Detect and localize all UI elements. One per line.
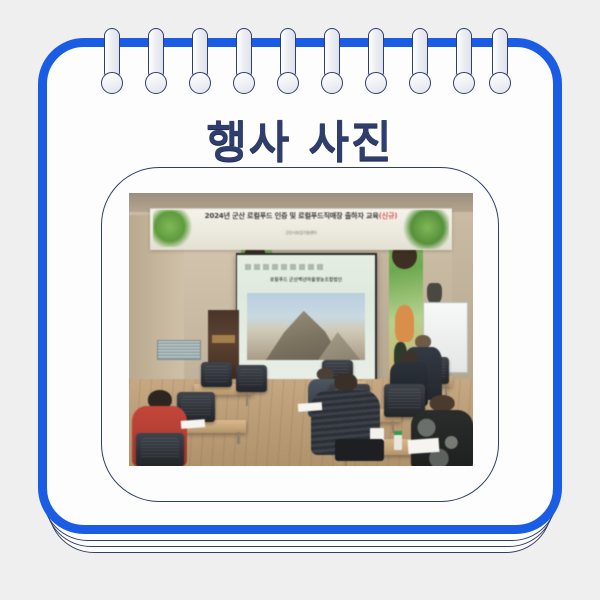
spiral-ring-loop (233, 72, 255, 94)
handout-paper (407, 438, 439, 454)
podium-plate (212, 335, 236, 343)
slide-landscape-image (247, 293, 366, 360)
notepad-container: 행사 사진 (0, 0, 600, 600)
spiral-ring-loop (145, 72, 167, 94)
spiral-ring (233, 28, 255, 100)
chair (236, 365, 267, 392)
chair (136, 433, 184, 466)
banner-highlight-label: (신규) (379, 211, 398, 220)
event-photo[interactable]: 2024년 군산 로컬푸드 인증 및 로컬푸드직매장 출하자 교육(신규) 군산… (129, 193, 473, 466)
spiral-ring (365, 28, 387, 100)
attendee-head (334, 373, 357, 391)
spiral-ring-loop (189, 72, 211, 94)
attendee-head (430, 395, 455, 411)
spiral-ring-loop (409, 72, 431, 94)
bottle (394, 431, 402, 450)
photo-scene: 2024년 군산 로컬푸드 인증 및 로컬푸드직매장 출하자 교육(신규) 군산… (129, 193, 473, 466)
spiral-ring (277, 28, 299, 100)
banner-main-label: 2024년 군산 로컬푸드 인증 및 로컬푸드직매장 출하자 교육 (205, 211, 379, 220)
spiral-ring (489, 28, 511, 100)
spiral-ring-loop (277, 72, 299, 94)
desk-leg (237, 432, 240, 444)
slide-title-text: 로컬푸드 군산백년마을영농조합법인 (237, 277, 375, 283)
desk-leg (246, 394, 249, 406)
spiral-ring-loop (101, 72, 123, 94)
handout-paper (180, 419, 205, 429)
attendee-foreground-right (411, 395, 473, 466)
spiral-ring (453, 28, 475, 100)
event-banner: 2024년 군산 로컬푸드 인증 및 로컬푸드직매장 출하자 교육(신규) 군산… (150, 208, 453, 250)
spiral-ring (145, 28, 167, 100)
bottle-cap (394, 431, 402, 436)
page-title: 행사 사진 (0, 106, 600, 170)
spiral-ring-loop (489, 72, 511, 94)
attendee-body (411, 410, 473, 466)
slide-header-line (245, 264, 322, 270)
spiral-ring-loop (453, 72, 475, 94)
spiral-ring (321, 28, 343, 100)
bag (335, 439, 383, 461)
chair (201, 362, 232, 387)
spiral-ring (409, 28, 431, 100)
spiral-ring (189, 28, 211, 100)
banner-title-text: 2024년 군산 로컬푸드 인증 및 로컬푸드직매장 출하자 교육(신규) (150, 211, 453, 221)
spiral-ring-loop (365, 72, 387, 94)
photo-card[interactable]: 2024년 군산 로컬푸드 인증 및 로컬푸드직매장 출하자 교육(신규) 군산… (101, 167, 499, 502)
banner-subtitle-text: 군산시농업기술센터 (150, 230, 453, 236)
spiral-ring (101, 28, 123, 100)
wall-vent (157, 340, 202, 359)
spiral-ring-loop (321, 72, 343, 94)
